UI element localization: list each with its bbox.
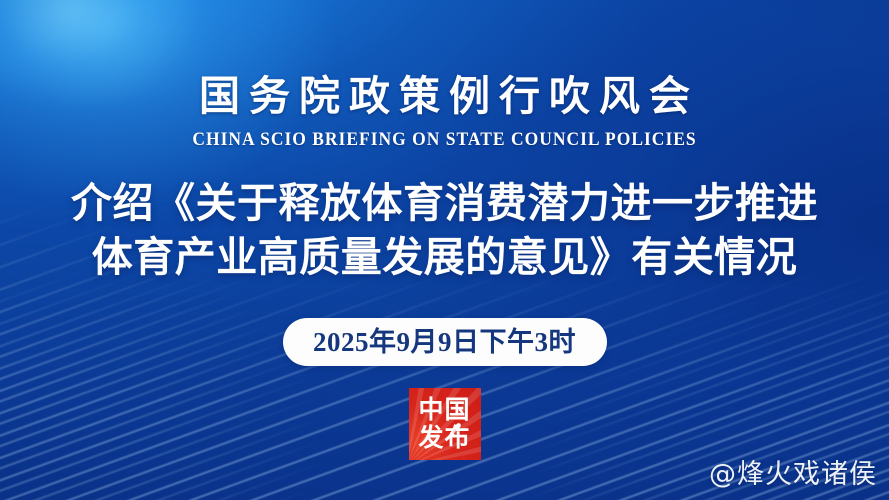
headline-line-1: 介绍《关于释放体育消费潜力进一步推进 <box>0 176 889 230</box>
date-badge-label: 2025年9月9日下午3时 <box>313 327 576 357</box>
headline-block: 介绍《关于释放体育消费潜力进一步推进 体育产业高质量发展的意见》有关情况 <box>0 176 889 284</box>
page-title-chinese: 国务院政策例行吹风会 <box>0 72 889 120</box>
watermark-text: @烽火戏诸侯 <box>709 458 877 492</box>
poster-canvas: 国务院政策例行吹风会 CHINA SCIO BRIEFING ON STATE … <box>0 0 889 500</box>
china-release-logo: 中国 发布 <box>409 388 481 460</box>
page-title-english: CHINA SCIO BRIEFING ON STATE COUNCIL POL… <box>36 128 854 152</box>
logo-label-line-2: 发布 <box>409 424 481 451</box>
date-badge: 2025年9月9日下午3时 <box>283 318 607 366</box>
logo-label-line-1: 中国 <box>409 396 481 423</box>
headline-line-2: 体育产业高质量发展的意见》有关情况 <box>0 230 889 284</box>
microphone-icon <box>447 421 464 438</box>
poster-content: 国务院政策例行吹风会 CHINA SCIO BRIEFING ON STATE … <box>0 0 889 500</box>
